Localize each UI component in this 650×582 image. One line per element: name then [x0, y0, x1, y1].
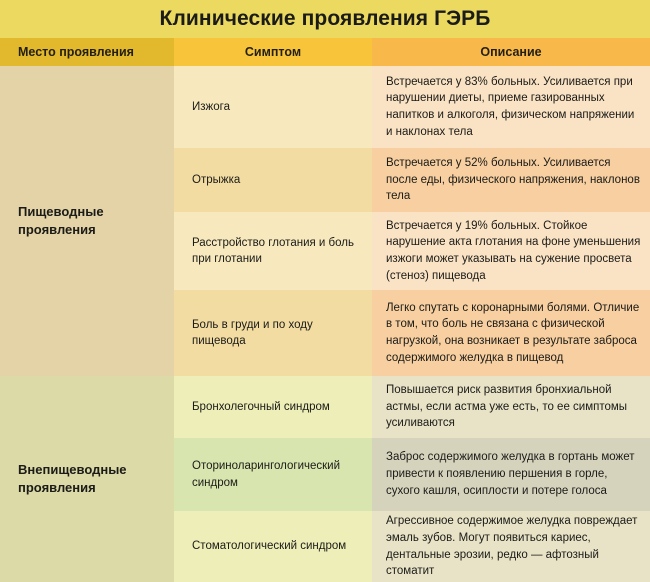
description-text: Заброс содержимого желудка в гортань мож… [386, 449, 642, 499]
description-cell: Встречается у 19% больных. Стойкое наруш… [372, 212, 650, 290]
description-cell: Встречается у 83% больных. Усиливается п… [372, 66, 650, 148]
table-row: Стоматологический синдромАгрессивное сод… [174, 511, 650, 582]
symptom-text: Боль в груди и по ходу пищевода [192, 317, 360, 349]
symptom-text: Расстройство глотания и боль при глотани… [192, 235, 360, 267]
table-row: Бронхолегочный синдромПовышается риск ра… [174, 376, 650, 438]
infographic-title-band: Клинические проявления ГЭРБ [0, 0, 650, 38]
table-header-row: Место проявления Симптом Описание [0, 38, 650, 66]
symptom-text: Бронхолегочный синдром [192, 399, 330, 415]
description-cell: Заброс содержимого желудка в гортань мож… [372, 438, 650, 511]
group-label-cell: Внепищеводные проявления [0, 376, 174, 582]
table-group: Пищеводные проявленияИзжогаВстречается у… [0, 66, 650, 376]
symptom-text: Изжога [192, 99, 230, 115]
table-group: Внепищеводные проявленияБронхолегочный с… [0, 376, 650, 582]
symptom-cell: Оториноларингологический синдром [174, 438, 372, 511]
symptom-text: Оториноларингологический синдром [192, 458, 360, 490]
gerd-clinical-manifestations-infographic: Клинические проявления ГЭРБ Место проявл… [0, 0, 650, 576]
description-cell: Агрессивное содержимое желудка повреждае… [372, 511, 650, 582]
description-cell: Встречается у 52% больных. Усиливается п… [372, 148, 650, 212]
description-cell: Легко спутать с коронарными болями. Отли… [372, 290, 650, 376]
description-cell: Повышается риск развития бронхиальной ас… [372, 376, 650, 438]
table-row: Оториноларингологический синдромЗаброс с… [174, 438, 650, 511]
symptom-text: Отрыжка [192, 172, 240, 188]
description-text: Агрессивное содержимое желудка повреждае… [386, 513, 642, 580]
group-rows: Бронхолегочный синдромПовышается риск ра… [174, 376, 650, 582]
table-row: ИзжогаВстречается у 83% больных. Усилива… [174, 66, 650, 148]
group-rows: ИзжогаВстречается у 83% больных. Усилива… [174, 66, 650, 376]
symptom-text: Стоматологический синдром [192, 538, 346, 554]
table-row: Боль в груди и по ходу пищеводаЛегко спу… [174, 290, 650, 376]
symptom-cell: Расстройство глотания и боль при глотани… [174, 212, 372, 290]
column-header-symptom: Симптом [174, 38, 372, 66]
group-label-text: Внепищеводные проявления [18, 461, 164, 496]
table-row: Расстройство глотания и боль при глотани… [174, 212, 650, 290]
symptom-cell: Боль в груди и по ходу пищевода [174, 290, 372, 376]
description-text: Встречается у 83% больных. Усиливается п… [386, 74, 642, 141]
table-body: Пищеводные проявленияИзжогаВстречается у… [0, 66, 650, 576]
description-text: Встречается у 52% больных. Усиливается п… [386, 155, 642, 205]
column-header-description: Описание [372, 38, 650, 66]
group-label-cell: Пищеводные проявления [0, 66, 174, 376]
symptom-cell: Изжога [174, 66, 372, 148]
column-header-place: Место проявления [0, 38, 174, 66]
group-label-text: Пищеводные проявления [18, 203, 164, 238]
table-row: ОтрыжкаВстречается у 52% больных. Усилив… [174, 148, 650, 212]
description-text: Встречается у 19% больных. Стойкое наруш… [386, 218, 642, 285]
symptom-cell: Стоматологический синдром [174, 511, 372, 582]
page-title: Клинические проявления ГЭРБ [160, 7, 491, 31]
symptom-cell: Отрыжка [174, 148, 372, 212]
description-text: Повышается риск развития бронхиальной ас… [386, 382, 642, 432]
symptom-cell: Бронхолегочный синдром [174, 376, 372, 438]
description-text: Легко спутать с коронарными болями. Отли… [386, 300, 642, 367]
